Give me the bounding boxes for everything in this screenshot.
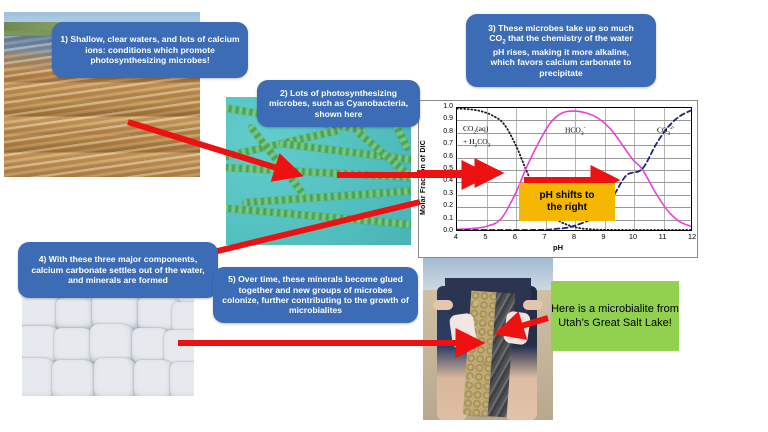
chart-x-axis-label: pH: [419, 243, 697, 252]
callout-ph-shift-text: pH shifts to the right: [540, 190, 595, 215]
chart-x-tick: 4: [449, 232, 463, 241]
callout-step-5-text: 5) Over time, these minerals become glue…: [220, 274, 411, 316]
micro-photo-glove-left: [449, 312, 477, 349]
callout-3-co2-prefix: CO: [489, 33, 502, 43]
chart-y-tick: 0.2: [431, 202, 453, 209]
callout-microbialite-note-text: Here is a microbialite from Utah’s Great…: [551, 302, 679, 331]
callout-step-4-text: 4) With these three major components, ca…: [25, 254, 211, 285]
gravel-stone: [52, 360, 98, 396]
micro-photo-arm-right: [523, 300, 543, 310]
chart-y-tick: 0.8: [431, 128, 453, 135]
gravel-stone: [170, 362, 194, 396]
callout-step-1-text: 1) Shallow, clear waters, and lots of ca…: [59, 34, 241, 65]
photo-limestone-gravel: [22, 296, 194, 396]
chart-x-tick: 11: [656, 232, 670, 241]
callout-step-4[interactable]: 4) With these three major components, ca…: [18, 242, 218, 298]
chart-y-tick: 0.1: [431, 215, 453, 222]
chart-y-tick: 1.0: [431, 103, 453, 110]
chart-y-tick: 0.6: [431, 153, 453, 160]
chart-x-tick: 5: [479, 232, 493, 241]
callout-3-line-2-rest: that the chemistry of the water: [506, 33, 633, 43]
micro-photo-arm-left: [433, 300, 453, 310]
chart-label-co3: CO32-: [657, 125, 675, 137]
chart-x-tick: 9: [597, 232, 611, 241]
callout-step-3[interactable]: 3) These microbes take up so much CO2 th…: [466, 14, 656, 87]
callout-step-5[interactable]: 5) Over time, these minerals become glue…: [213, 267, 418, 323]
callout-step-2-text: 2) Lots of photosynthesizing microbes, s…: [264, 88, 413, 119]
carbonate-speciation-chart: Molar Fraction of DIC 0.00.10.20.30.40.5…: [418, 100, 698, 258]
ph-shift-line-2: the right: [547, 202, 587, 213]
callout-3-line-3: pH rises, making it more alkaline,: [493, 47, 629, 57]
chart-y-tick: 0.9: [431, 115, 453, 122]
chart-x-tick: 10: [626, 232, 640, 241]
callout-ph-shift[interactable]: pH shifts to the right: [519, 183, 615, 221]
chart-y-tick: 0.3: [431, 190, 453, 197]
callout-3-line-5: precipitate: [539, 68, 582, 78]
callout-step-3-text: 3) These microbes take up so much CO2 th…: [488, 23, 634, 78]
chart-x-tick: 7: [538, 232, 552, 241]
callout-3-line-1: 3) These microbes take up so much: [488, 23, 634, 33]
chart-x-tick: 6: [508, 232, 522, 241]
callout-3-line-4: which favors calcium carbonate to: [491, 57, 632, 67]
callout-step-2[interactable]: 2) Lots of photosynthesizing microbes, s…: [257, 80, 420, 127]
gravel-stone: [94, 358, 138, 396]
micro-photo-glove-right: [503, 310, 531, 345]
chart-y-tick: 0.5: [431, 165, 453, 172]
chart-y-tick: 0.4: [431, 177, 453, 184]
chart-x-tick: 8: [567, 232, 581, 241]
chart-label-hco3: HCO3-: [565, 125, 585, 137]
chart-x-tick: 12: [685, 232, 699, 241]
chart-label-co2: CO2(aq)+ H2CO3: [463, 124, 490, 150]
ph-shift-line-1: pH shifts to: [540, 190, 595, 201]
callout-step-1[interactable]: 1) Shallow, clear waters, and lots of ca…: [52, 22, 248, 78]
photo-microbialite: [423, 256, 553, 420]
slide-canvas: Molar Fraction of DIC 0.00.10.20.30.40.5…: [0, 0, 768, 432]
gravel-stone: [56, 298, 96, 332]
callout-microbialite-note[interactable]: Here is a microbialite from Utah’s Great…: [551, 281, 679, 351]
microbialite-rock: [463, 291, 516, 418]
chart-y-tick: 0.7: [431, 140, 453, 147]
